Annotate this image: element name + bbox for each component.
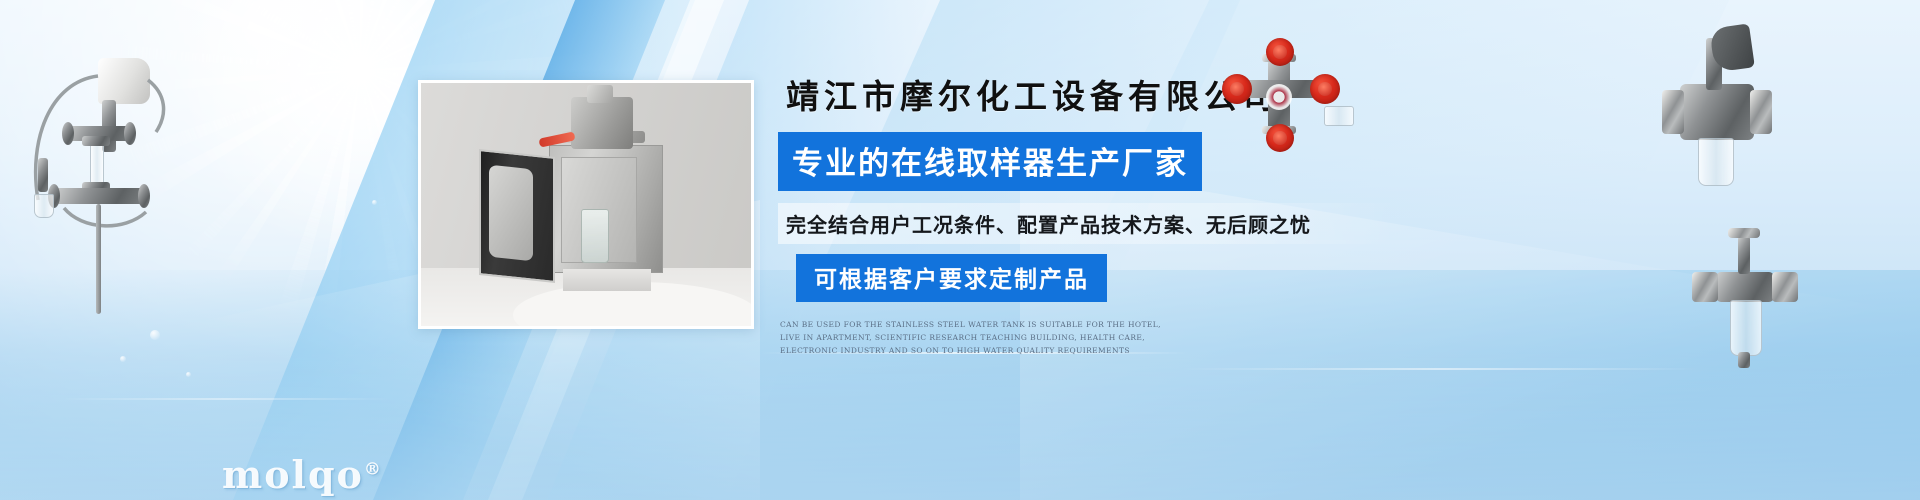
inline-valve-stem [1738, 236, 1750, 274]
cabinet-pedestal [563, 269, 651, 291]
red-handwheel-right [1310, 74, 1340, 104]
light-streak-2 [1180, 368, 1700, 370]
tube-top-flange [82, 136, 110, 146]
lower-valve-body [54, 188, 146, 204]
cabinet-top-valve-head [571, 97, 633, 149]
lever-valve-body [1680, 84, 1754, 140]
bubble-1 [150, 330, 160, 340]
red-handwheel-top [1266, 38, 1294, 66]
sub-headline: 完全结合用户工况条件、配置产品技术方案、无后顾之忧 [778, 203, 1398, 244]
watermark-registered-icon: ® [364, 459, 383, 479]
inline-sample-jar [1730, 300, 1762, 356]
watermark-logo: molqo® [222, 452, 383, 497]
inline-flange-right [1772, 272, 1798, 302]
red-handwheel-left [1222, 74, 1252, 104]
upper-valve-handwheel-left [62, 122, 74, 145]
left-product-render [20, 30, 180, 320]
bubble-5 [372, 200, 377, 205]
headline-badge: 专业的在线取样器生产厂家 [778, 132, 1202, 191]
bubble-3 [186, 372, 191, 377]
lever-valve-collection-jar [1698, 138, 1734, 186]
lever-valve-flange-left [1662, 90, 1684, 134]
english-caption: CAN BE USED FOR THE STAINLESS STEEL WATE… [780, 318, 1180, 357]
light-streak-3 [60, 398, 390, 400]
promo-banner: 靖江市摩尔化工设备有限公司 专业的在线取样器生产厂家 完全结合用户工况条件、配置… [0, 0, 1920, 500]
right-product-inline-sampler [1680, 228, 1810, 378]
relief-valve [38, 158, 48, 192]
inline-drain-spout [1738, 352, 1750, 368]
right-product-lever-valve [1640, 24, 1780, 194]
watermark-text: molqo [222, 452, 364, 497]
cabinet-door-window [489, 165, 533, 262]
bubble-4 [352, 50, 358, 56]
lower-valve-handwheel-right [138, 184, 150, 208]
inline-valve-cap [1728, 228, 1760, 238]
manifold-glass-vessel [1324, 106, 1354, 126]
red-handwheel-bottom [1266, 124, 1294, 152]
upper-valve-handwheel-right [124, 122, 136, 145]
lever-valve-flange-right [1750, 90, 1772, 134]
cabinet-top-cap [587, 85, 613, 103]
inline-valve-body [1716, 272, 1774, 302]
certification-seal-icon [1266, 84, 1292, 110]
insertion-probe [96, 204, 101, 314]
sample-bottle [34, 194, 54, 218]
center-product-photo[interactable] [418, 80, 754, 329]
right-product-cross-manifold [1218, 40, 1368, 150]
inline-flange-left [1692, 272, 1718, 302]
sample-bottle-in-cabinet [581, 209, 609, 263]
cta-badge[interactable]: 可根据客户要求定制产品 [796, 254, 1107, 302]
bubble-2 [120, 356, 126, 362]
